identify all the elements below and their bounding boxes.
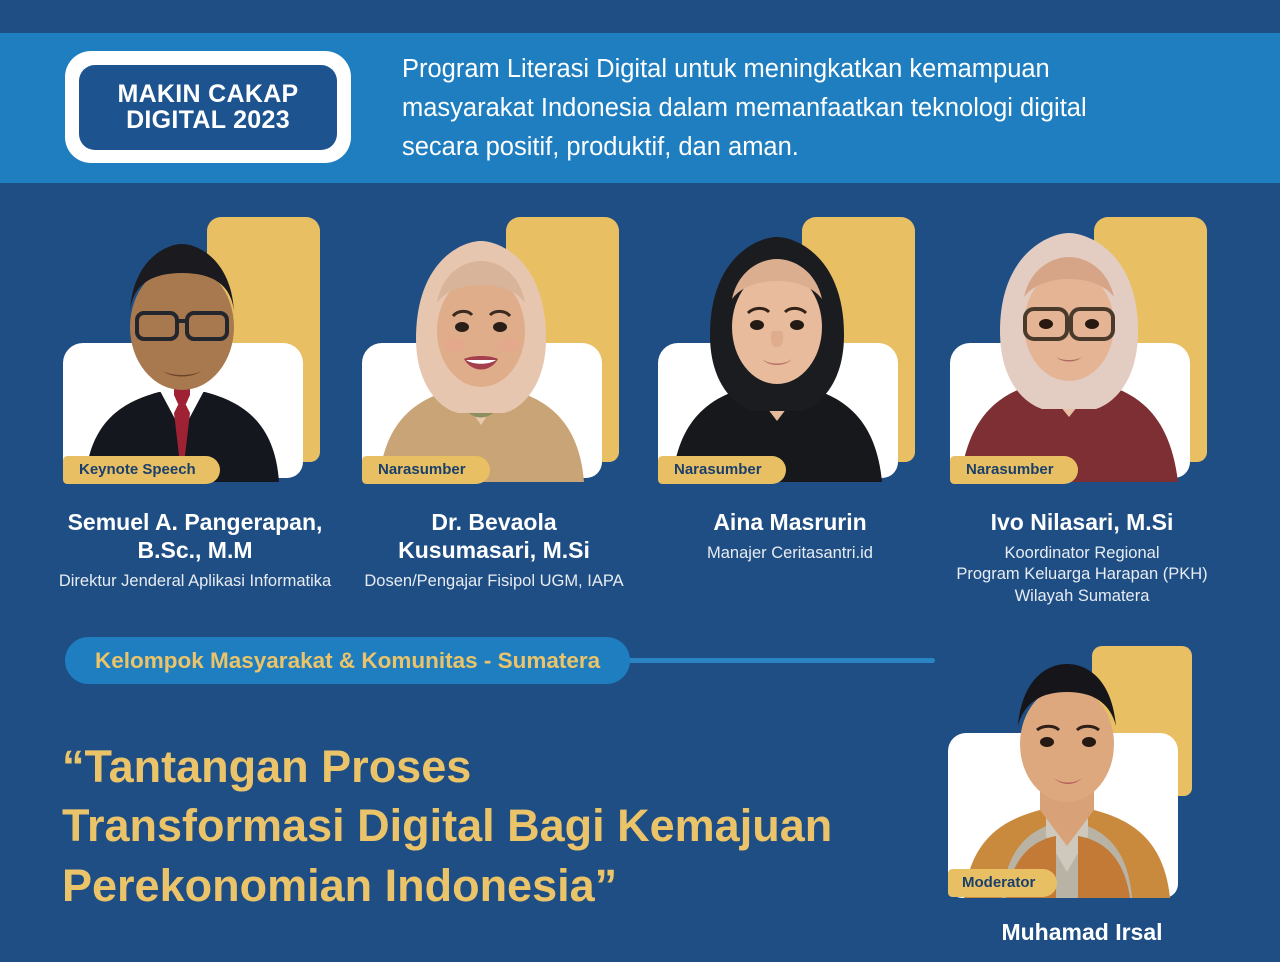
speaker-role: Manajer Ceritasantri.id [640, 543, 940, 564]
logo-line-2: DIGITAL 2023 [126, 107, 290, 134]
portrait-illustration [55, 199, 305, 482]
speaker-role-line-3: Wilayah Sumatera [932, 586, 1232, 607]
speaker-photo-wrap: Narasumber [640, 195, 940, 492]
speaker-role: Dosen/Pengajar Fisipol UGM, IAPA [344, 571, 644, 592]
logo-line-1: MAKIN CAKAP [117, 81, 298, 108]
speaker-name-line-1: Aina Masrurin [640, 508, 940, 536]
speaker-name: Ivo Nilasari, M.Si [932, 508, 1232, 536]
logo-inner-plate: MAKIN CAKAP DIGITAL 2023 [79, 65, 337, 150]
speaker-card: Narasumber Aina Masrurin Manajer Ceritas… [640, 195, 940, 564]
speaker-photo-wrap: Narasumber [344, 195, 644, 492]
moderator-role-badge: Moderator [948, 869, 1057, 897]
moderator-portrait [942, 640, 1192, 898]
speaker-role-badge: Narasumber [658, 456, 786, 484]
speaker-name-line-2: B.Sc., M.M [45, 536, 345, 564]
portrait-illustration [942, 640, 1192, 898]
speaker-name: Dr. Bevaola Kusumasari, M.Si [344, 508, 644, 564]
speaker-card: Narasumber Ivo Nilasari, M.Si Koordinato… [932, 195, 1232, 607]
moderator-name: Muhamad Irsal [932, 919, 1232, 946]
speaker-role-line-2: Program Keluarga Harapan (PKH) [932, 564, 1232, 585]
speaker-role-line-1: Manajer Ceritasantri.id [640, 543, 940, 564]
speaker-portrait [55, 199, 305, 482]
speaker-name-line-2: Kusumasari, M.Si [344, 536, 644, 564]
event-title-line-1: “Tantangan Proses [62, 737, 942, 796]
portrait-illustration [650, 199, 900, 482]
speaker-role-line-1: Direktur Jenderal Aplikasi Informatika [45, 571, 345, 592]
speaker-portrait [650, 199, 900, 482]
event-title: “Tantangan Proses Transformasi Digital B… [62, 737, 942, 915]
event-title-line-3: Perekonomian Indonesia” [62, 856, 942, 915]
speaker-photo-wrap: Keynote Speech [45, 195, 345, 492]
speaker-name-line-1: Dr. Bevaola [344, 508, 644, 536]
header-description-line-2: masyarakat Indonesia dalam memanfaatkan … [402, 89, 1217, 128]
speaker-list: Keynote Speech Semuel A. Pangerapan, B.S… [0, 195, 1280, 615]
header-description-line-3: secara positif, produktif, dan aman. [402, 128, 1217, 167]
moderator-photo-wrap: Moderator [932, 640, 1222, 905]
speaker-role-badge: Narasumber [362, 456, 490, 484]
header-description-line-1: Program Literasi Digital untuk meningkat… [402, 50, 1217, 89]
top-dark-strip [0, 0, 1280, 33]
speaker-role-line-1: Koordinator Regional [932, 543, 1232, 564]
speaker-name-line-1: Ivo Nilasari, M.Si [932, 508, 1232, 536]
moderator-card: Moderator Muhamad Irsal [932, 640, 1232, 946]
portrait-illustration [354, 199, 604, 482]
event-title-line-2: Transformasi Digital Bagi Kemajuan [62, 796, 942, 855]
speaker-role-badge: Keynote Speech [63, 456, 220, 484]
speaker-role: Koordinator Regional Program Keluarga Ha… [932, 543, 1232, 607]
speaker-name: Aina Masrurin [640, 508, 940, 536]
speaker-name: Semuel A. Pangerapan, B.Sc., M.M [45, 508, 345, 564]
speaker-role-badge: Narasumber [950, 456, 1078, 484]
category-pill: Kelompok Masyarakat & Komunitas - Sumate… [65, 637, 630, 684]
speaker-photo-wrap: Narasumber [932, 195, 1232, 492]
speaker-role-line-1: Dosen/Pengajar Fisipol UGM, IAPA [344, 571, 644, 592]
speaker-role: Direktur Jenderal Aplikasi Informatika [45, 571, 345, 592]
category-divider-line [600, 658, 935, 663]
speaker-portrait [942, 199, 1192, 482]
speaker-card: Narasumber Dr. Bevaola Kusumasari, M.Si … [344, 195, 644, 593]
program-logo: MAKIN CAKAP DIGITAL 2023 [65, 51, 351, 163]
portrait-illustration [942, 199, 1192, 482]
speaker-name-line-1: Semuel A. Pangerapan, [45, 508, 345, 536]
speaker-card: Keynote Speech Semuel A. Pangerapan, B.S… [45, 195, 345, 593]
header-description: Program Literasi Digital untuk meningkat… [402, 50, 1217, 166]
speaker-portrait [354, 199, 604, 482]
